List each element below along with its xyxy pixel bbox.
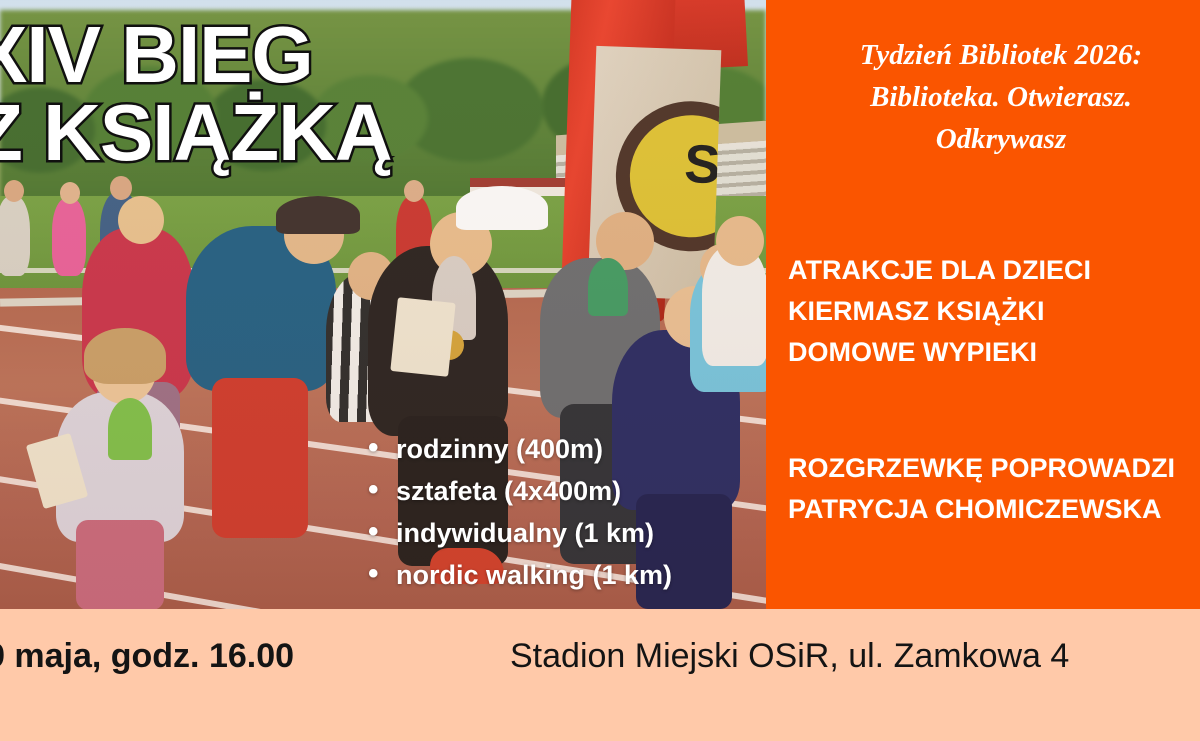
- warmup-announcement: ROZGRZEWKĘ POPROWADZI PATRYCJA CHOMICZEW…: [788, 448, 1175, 530]
- runner-white-cap-icon: [456, 186, 548, 230]
- runner-hair: [84, 328, 166, 384]
- race-category-item: sztafeta (4x400m): [366, 470, 672, 512]
- spectator-head: [60, 182, 80, 204]
- spectator: [52, 198, 86, 276]
- medal-ribbon: [588, 258, 628, 316]
- spectator-head: [4, 180, 24, 202]
- attractions-list: ATRAKCJE DLA DZIECI KIERMASZ KSIĄŻKI DOM…: [788, 250, 1091, 373]
- race-category-list: rodzinny (400m) sztafeta (4x400m) indywi…: [366, 428, 672, 596]
- medal-ribbon: [108, 398, 152, 460]
- runner-cap-icon: [276, 196, 360, 234]
- heading-line-1: Tydzień Bibliotek 2026:: [766, 34, 1200, 76]
- event-location: Stadion Miejski OSiR, ul. Zamkowa 4: [510, 639, 1069, 673]
- library-week-heading: Tydzień Bibliotek 2026: Biblioteka. Otwi…: [766, 34, 1200, 160]
- orange-info-panel: Tydzień Bibliotek 2026: Biblioteka. Otwi…: [766, 0, 1200, 609]
- attraction-item: ATRAKCJE DLA DZIECI: [788, 250, 1091, 291]
- footer-bar: 9 maja, godz. 16.00 Stadion Miejski OSiR…: [0, 609, 1200, 741]
- runner-head: [716, 216, 764, 266]
- spectator: [0, 196, 30, 276]
- heading-line-3: Odkrywasz: [766, 118, 1200, 160]
- spectator-head: [110, 176, 132, 200]
- held-book: [390, 297, 455, 377]
- race-category-item: indywidualny (1 km): [366, 512, 672, 554]
- runner-legs: [76, 520, 164, 609]
- runner-legs: [212, 378, 308, 538]
- heading-line-2: Biblioteka. Otwierasz.: [766, 76, 1200, 118]
- title-line-2: Z KSIĄŻKĄ: [0, 94, 392, 172]
- event-date-time: 9 maja, godz. 16.00: [0, 639, 294, 673]
- sponsor-logo-letter: S: [683, 137, 721, 192]
- event-poster: S: [0, 0, 1200, 741]
- title-line-1: XIV BIEG: [0, 10, 313, 99]
- attraction-item: DOMOWE WYPIEKI: [788, 332, 1091, 373]
- warmup-line-2: PATRYCJA CHOMICZEWSKA: [788, 489, 1175, 530]
- poster-main-title: XIV BIEG Z KSIĄŻKĄ: [0, 16, 392, 173]
- race-category-item: rodzinny (400m): [366, 428, 672, 470]
- spectator-head: [404, 180, 424, 202]
- runner-head: [118, 196, 164, 244]
- warmup-line-1: ROZGRZEWKĘ POPROWADZI: [788, 448, 1175, 489]
- race-category-item: nordic walking (1 km): [366, 554, 672, 596]
- attraction-item: KIERMASZ KSIĄŻKI: [788, 291, 1091, 332]
